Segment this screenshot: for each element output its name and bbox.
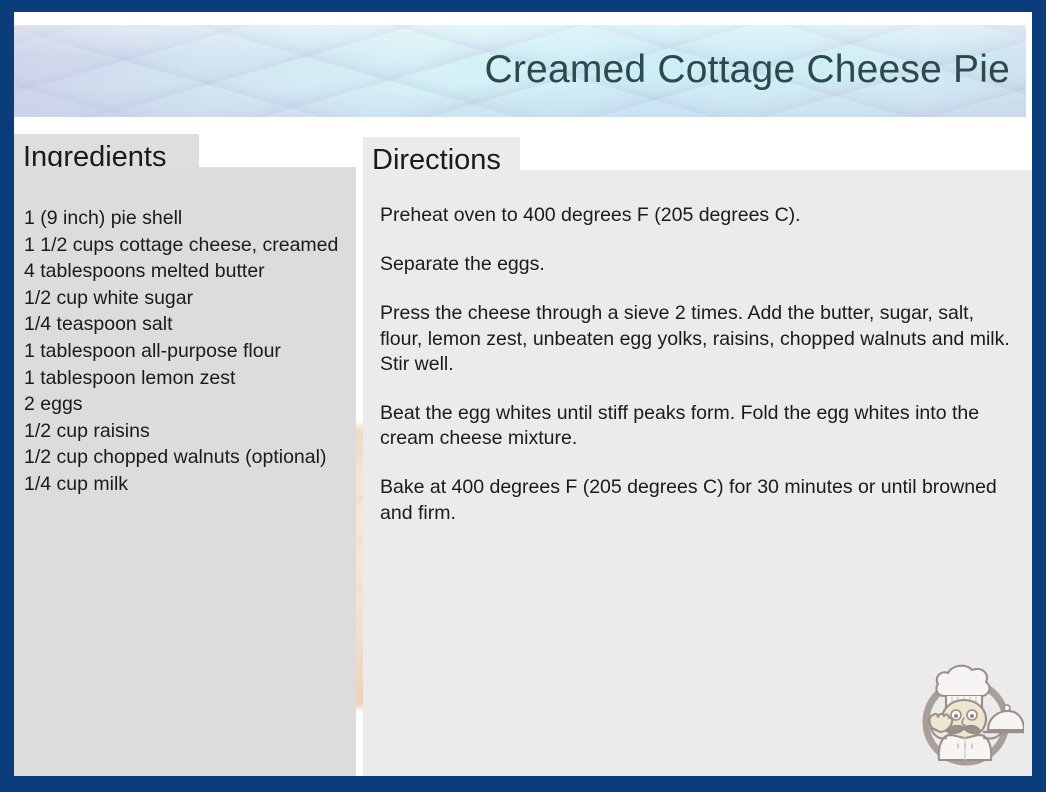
directions-panel: Preheat oven to 400 degrees F (205 degre… (363, 170, 1032, 776)
ingredient-item: 1/2 cup chopped walnuts (optional) (24, 444, 346, 471)
ingredient-item: 4 tablespoons melted butter (24, 258, 346, 285)
directions-steps-list: Preheat oven to 400 degrees F (205 degre… (380, 203, 1014, 526)
direction-step: Preheat oven to 400 degrees F (205 degre… (380, 203, 1014, 228)
direction-step: Separate the eggs. (380, 252, 1014, 277)
ingredient-item: 1 tablespoon lemon zest (24, 365, 346, 392)
ingredient-item: 1/4 teaspoon salt (24, 311, 346, 338)
direction-step: Beat the egg whites until stiff peaks fo… (380, 401, 1014, 451)
ingredient-item: 1 tablespoon all-purpose flour (24, 338, 346, 365)
ingredient-item: 1 1/2 cups cottage cheese, creamed (24, 232, 346, 259)
recipe-page: Creamed Cottage Cheese Pie (14, 12, 1032, 776)
ingredient-item: 1/4 cup milk (24, 471, 346, 498)
ingredient-item: 1/2 cup raisins (24, 418, 346, 445)
recipe-card: Creamed Cottage Cheese Pie (0, 0, 1046, 792)
ingredient-item: 1/2 cup white sugar (24, 285, 346, 312)
page-title: Creamed Cottage Cheese Pie (485, 48, 1011, 92)
header-banner: Creamed Cottage Cheese Pie (14, 25, 1026, 117)
ingredient-item: 2 eggs (24, 391, 346, 418)
ingredients-panel: 1 (9 inch) pie shell1 1/2 cups cottage c… (14, 167, 356, 776)
direction-step: Press the cheese through a sieve 2 times… (380, 301, 1014, 377)
ingredient-item: 1 (9 inch) pie shell (24, 205, 346, 232)
direction-step: Bake at 400 degrees F (205 degrees C) fo… (380, 475, 1014, 525)
ingredients-list: 1 (9 inch) pie shell1 1/2 cups cottage c… (24, 205, 346, 498)
